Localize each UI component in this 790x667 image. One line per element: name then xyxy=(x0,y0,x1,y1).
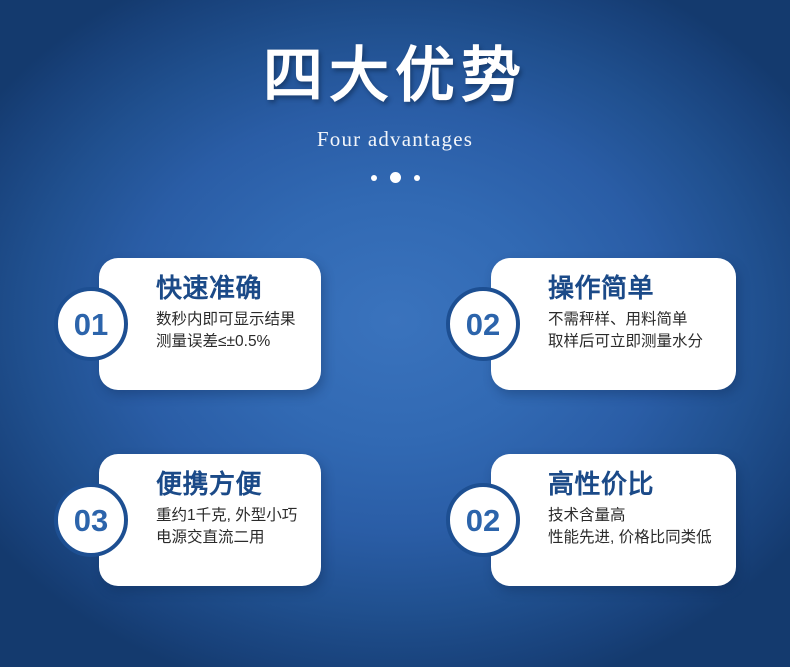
card-description: 技术含量高 性能先进, 价格比同类低 xyxy=(548,498,722,549)
advantage-card-02: 操作简单 不需秤样、用料简单 取样后可立即测量水分 02 xyxy=(446,258,736,390)
advantage-card-04: 高性价比 技术含量高 性能先进, 价格比同类低 02 xyxy=(446,454,736,586)
card-body: 操作简单 不需秤样、用料简单 取样后可立即测量水分 xyxy=(491,258,736,390)
advantages-poster: 四大优势 Four advantages 快速准确 数秒内即可显示结果 测量误差… xyxy=(0,0,790,667)
card-title: 高性价比 xyxy=(548,471,722,498)
advantage-card-grid: 快速准确 数秒内即可显示结果 测量误差≤±0.5% 01 操作简单 不需秤样、用… xyxy=(0,258,790,586)
dot-center-icon xyxy=(390,172,401,183)
card-number: 01 xyxy=(74,309,108,340)
card-title: 操作简单 xyxy=(548,275,722,302)
card-title: 便携方便 xyxy=(156,471,307,498)
card-title: 快速准确 xyxy=(156,275,307,302)
card-line: 测量误差≤±0.5% xyxy=(156,331,307,353)
card-number-badge: 02 xyxy=(446,483,520,557)
card-number-badge: 02 xyxy=(446,287,520,361)
page-subtitle: Four advantages xyxy=(0,106,790,152)
card-number-badge: 01 xyxy=(54,287,128,361)
card-number: 02 xyxy=(466,505,500,536)
card-line: 性能先进, 价格比同类低 xyxy=(548,527,722,549)
advantage-card-row: 快速准确 数秒内即可显示结果 测量误差≤±0.5% 01 操作简单 不需秤样、用… xyxy=(0,258,790,390)
card-number: 03 xyxy=(74,505,108,536)
card-line: 重约1千克, 外型小巧 xyxy=(156,505,307,527)
card-line: 取样后可立即测量水分 xyxy=(548,331,722,353)
dot-left-icon xyxy=(371,175,377,181)
page-title: 四大优势 xyxy=(0,0,790,106)
card-line: 不需秤样、用料简单 xyxy=(548,309,722,331)
card-number: 02 xyxy=(466,309,500,340)
card-number-badge: 03 xyxy=(54,483,128,557)
card-description: 不需秤样、用料简单 取样后可立即测量水分 xyxy=(548,302,722,353)
card-body: 快速准确 数秒内即可显示结果 测量误差≤±0.5% xyxy=(99,258,321,390)
advantage-card-01: 快速准确 数秒内即可显示结果 测量误差≤±0.5% 01 xyxy=(54,258,321,390)
advantage-card-row: 便携方便 重约1千克, 外型小巧 电源交直流二用 03 高性价比 技术含量高 性… xyxy=(0,454,790,586)
card-description: 重约1千克, 外型小巧 电源交直流二用 xyxy=(156,498,307,549)
decorative-dots xyxy=(0,152,790,183)
poster-header: 四大优势 Four advantages xyxy=(0,0,790,183)
card-description: 数秒内即可显示结果 测量误差≤±0.5% xyxy=(156,302,307,353)
card-line: 电源交直流二用 xyxy=(156,527,307,549)
dot-right-icon xyxy=(414,175,420,181)
advantage-card-03: 便携方便 重约1千克, 外型小巧 电源交直流二用 03 xyxy=(54,454,321,586)
card-line: 数秒内即可显示结果 xyxy=(156,309,307,331)
card-body: 便携方便 重约1千克, 外型小巧 电源交直流二用 xyxy=(99,454,321,586)
card-body: 高性价比 技术含量高 性能先进, 价格比同类低 xyxy=(491,454,736,586)
card-line: 技术含量高 xyxy=(548,505,722,527)
